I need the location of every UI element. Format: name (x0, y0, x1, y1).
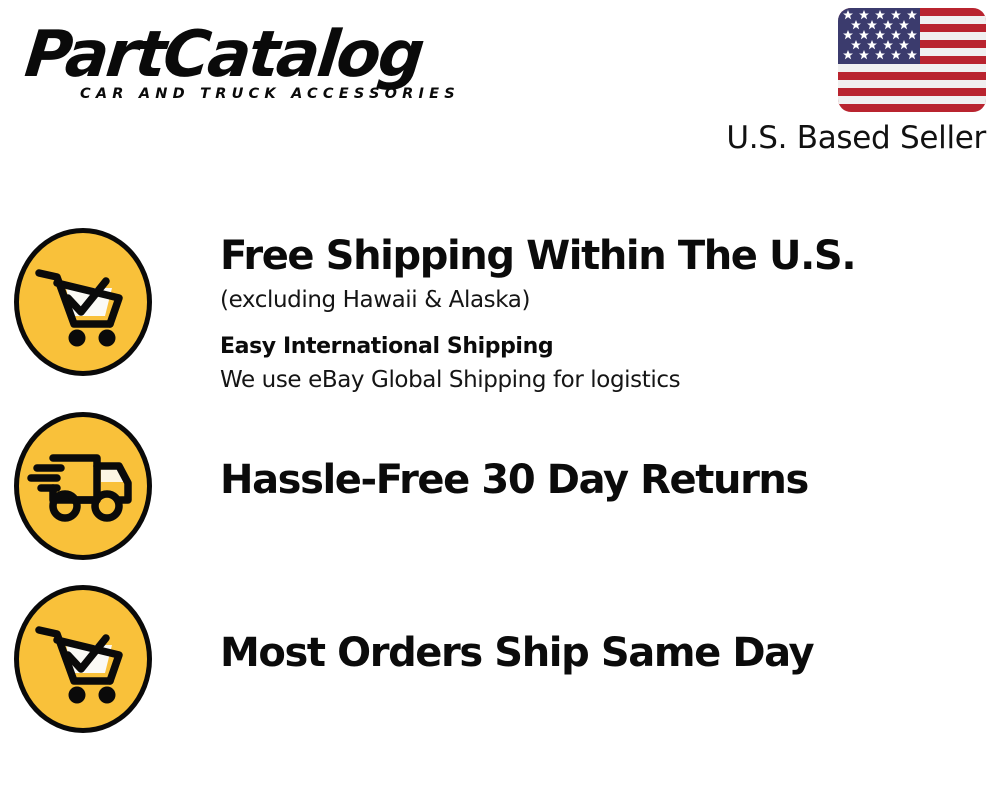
feature-subtitle-bold: Easy International Shipping (220, 330, 855, 364)
feature-icon-wrapper (0, 585, 152, 733)
feature-title: Free Shipping Within The U.S. (220, 232, 855, 280)
delivery-truck-icon (14, 412, 152, 560)
cart-check-icon (14, 585, 152, 733)
us-based-seller-label: U.S. Based Seller (686, 120, 986, 156)
feature-title: Hassle-Free 30 Day Returns (220, 456, 808, 504)
feature-title: Most Orders Ship Same Day (220, 629, 813, 677)
feature-icon-wrapper (0, 228, 152, 376)
us-based-seller-badge: U.S. Based Seller (686, 8, 986, 156)
feature-icon-wrapper (0, 412, 152, 560)
feature-subtitle-detail: We use eBay Global Shipping for logistic… (220, 364, 855, 396)
feature-row-free-shipping: Free Shipping Within The U.S. (excluding… (0, 228, 1000, 396)
promo-banner: PartCatalog CAR AND TRUCK ACCESSORIES (0, 0, 1000, 800)
us-flag-icon (838, 8, 986, 112)
feature-text-block: Hassle-Free 30 Day Returns (152, 412, 808, 504)
feature-text-block: Free Shipping Within The U.S. (excluding… (152, 228, 855, 396)
feature-text-block: Most Orders Ship Same Day (152, 585, 813, 677)
cart-check-icon (14, 228, 152, 376)
brand-wordmark: PartCatalog (22, 22, 499, 88)
brand-logo: PartCatalog CAR AND TRUCK ACCESSORIES (22, 22, 492, 114)
feature-row-returns: Hassle-Free 30 Day Returns (0, 412, 1000, 560)
feature-row-same-day-ship: Most Orders Ship Same Day (0, 585, 1000, 733)
feature-subtitle: (excluding Hawaii & Alaska) (220, 284, 855, 316)
